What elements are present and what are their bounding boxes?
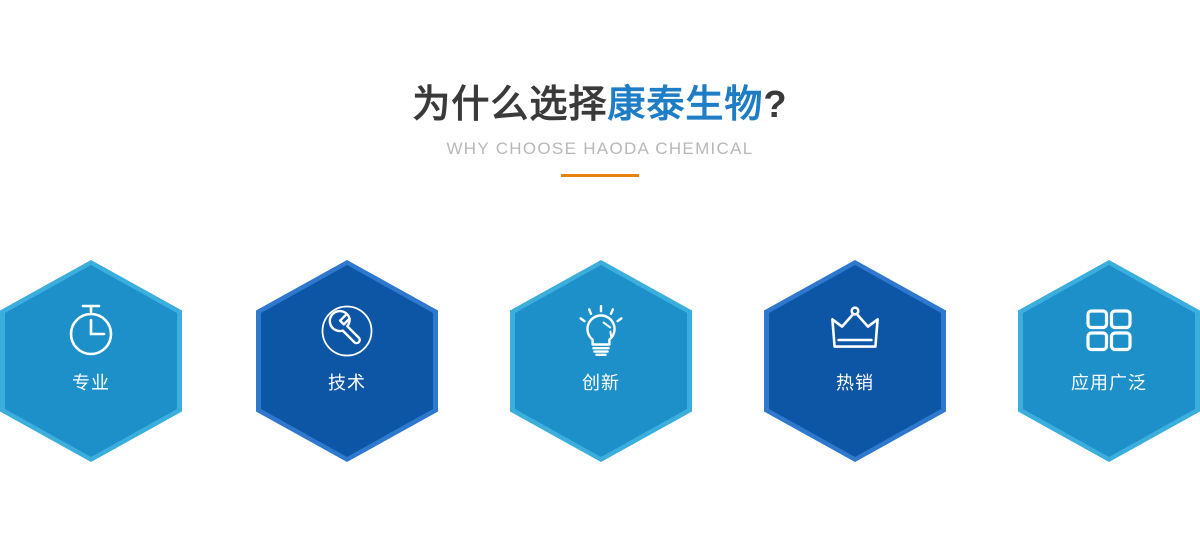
hexagon-content: 热销	[764, 260, 946, 462]
hexagon-content: 应用广泛	[1018, 260, 1200, 462]
feature-hexagon-hot-sale[interactable]: 热销	[764, 260, 946, 462]
crown-icon	[824, 300, 886, 362]
section-header: 为什么选择康泰生物? WHY CHOOSE HAODA CHEMICAL	[0, 84, 1200, 178]
hexagon-content: 专业	[0, 260, 182, 462]
feature-label: 技术	[328, 374, 366, 392]
lightbulb-icon	[570, 300, 632, 362]
hexagon-content: 技术	[256, 260, 438, 462]
feature-hexagon-row: 专业 技术	[0, 260, 1200, 470]
feature-hexagon-professional[interactable]: 专业	[0, 260, 182, 462]
stopwatch-icon	[60, 300, 122, 362]
page-title-prefix: 为什么选择	[412, 84, 607, 126]
feature-hexagon-innovation[interactable]: 创新	[510, 260, 692, 462]
page-title: 为什么选择康泰生物?	[0, 84, 1200, 128]
feature-label: 创新	[582, 374, 620, 392]
feature-hexagon-technology[interactable]: 技术	[256, 260, 438, 462]
feature-label: 应用广泛	[1071, 374, 1147, 392]
divider-wrap	[0, 174, 1200, 178]
feature-label: 热销	[836, 374, 874, 392]
feature-hexagon-wide-application[interactable]: 应用广泛	[1018, 260, 1200, 462]
hexagon-content: 创新	[510, 260, 692, 462]
page-title-suffix: ?	[763, 84, 787, 126]
page-title-accent: 康泰生物	[607, 84, 763, 126]
wrench-circle-icon	[316, 300, 378, 362]
feature-label: 专业	[72, 374, 110, 392]
page-subtitle: WHY CHOOSE HAODA CHEMICAL	[0, 139, 1200, 159]
title-divider	[561, 174, 639, 177]
grid-squares-icon	[1078, 300, 1140, 362]
